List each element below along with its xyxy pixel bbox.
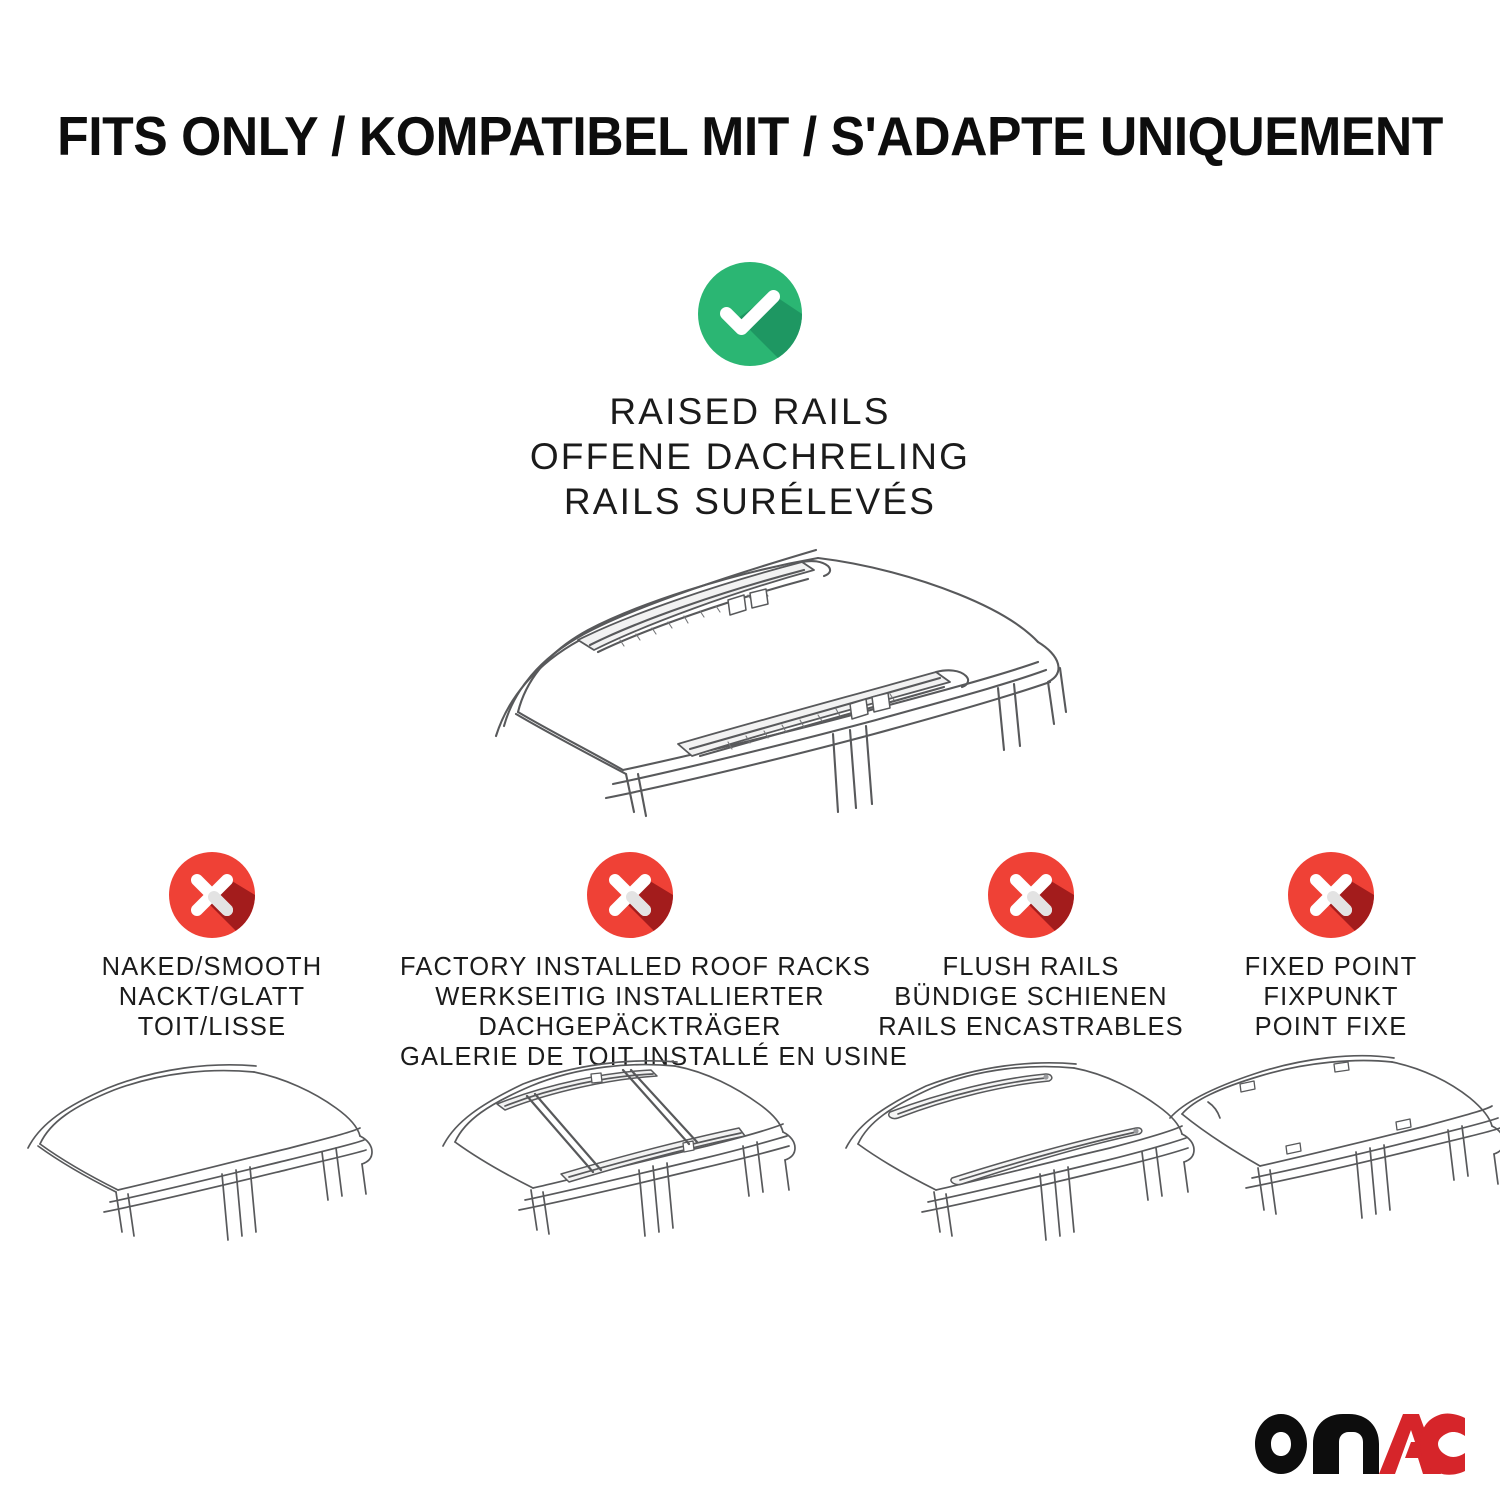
incompatible-label-line-3: DACHGEPÄCKTRÄGER xyxy=(400,1012,860,1042)
incompatible-label-line-3: POINT FIXE xyxy=(1200,1012,1462,1042)
x-circle-icon xyxy=(169,852,255,938)
incompatible-label-group: FIXED POINT FIXPUNKT POINT FIXE xyxy=(1200,952,1462,1042)
compatible-section: RAISED RAILS OFFENE DACHRELING RAILS SUR… xyxy=(0,262,1500,524)
x-circle-icon xyxy=(988,852,1074,938)
compatible-label-group: RAISED RAILS OFFENE DACHRELING RAILS SUR… xyxy=(0,389,1500,524)
incompatible-label-line-2: FIXPUNKT xyxy=(1200,982,1462,1012)
incompatible-item-naked-smooth: NAKED/SMOOTH NACKT/GLATT TOIT/LISSE xyxy=(62,852,362,1042)
incompatible-section: NAKED/SMOOTH NACKT/GLATT TOIT/LISSE xyxy=(0,852,1500,1492)
car-roof-factory-roof-racks-illustration xyxy=(435,1048,825,1298)
car-roof-naked-smooth-illustration xyxy=(22,1048,402,1298)
incompatible-item-fixed-point: FIXED POINT FIXPUNKT POINT FIXE xyxy=(1200,852,1462,1042)
incompatible-label-line-1: NAKED/SMOOTH xyxy=(62,952,362,982)
page-title: FITS ONLY / KOMPATIBEL MIT / S'ADAPTE UN… xyxy=(45,104,1455,168)
car-roof-raised-rails-illustration xyxy=(398,512,1122,832)
incompatible-label-line-1: FIXED POINT xyxy=(1200,952,1462,982)
compatible-label-de: OFFENE DACHRELING xyxy=(0,434,1500,479)
x-circle-icon xyxy=(587,852,673,938)
incompatible-label-line-2: WERKSEITIG INSTALLIERTER xyxy=(400,982,860,1012)
incompatible-label-line-2: BÜNDIGE SCHIENEN xyxy=(872,982,1190,1012)
car-roof-fixed-point-illustration xyxy=(1160,1048,1500,1298)
incompatible-label-line-3: TOIT/LISSE xyxy=(62,1012,362,1042)
incompatible-label-line-1: FLUSH RAILS xyxy=(872,952,1190,982)
incompatible-label-line-1: FACTORY INSTALLED ROOF RACKS xyxy=(400,952,860,982)
incompatible-item-factory-roof-racks: FACTORY INSTALLED ROOF RACKS WERKSEITIG … xyxy=(400,852,860,1072)
incompatible-item-flush-rails: FLUSH RAILS BÜNDIGE SCHIENEN RAILS ENCAS… xyxy=(872,852,1190,1042)
incompatible-label-line-3: RAILS ENCASTRABLES xyxy=(872,1012,1190,1042)
incompatible-label-group: FLUSH RAILS BÜNDIGE SCHIENEN RAILS ENCAS… xyxy=(872,952,1190,1042)
omac-logo xyxy=(1253,1412,1467,1476)
x-circle-icon xyxy=(1288,852,1374,938)
check-circle-icon xyxy=(698,262,802,366)
incompatible-label-line-2: NACKT/GLATT xyxy=(62,982,362,1012)
incompatible-label-group: NAKED/SMOOTH NACKT/GLATT TOIT/LISSE xyxy=(62,952,362,1042)
compatible-label-en: RAISED RAILS xyxy=(0,389,1500,434)
